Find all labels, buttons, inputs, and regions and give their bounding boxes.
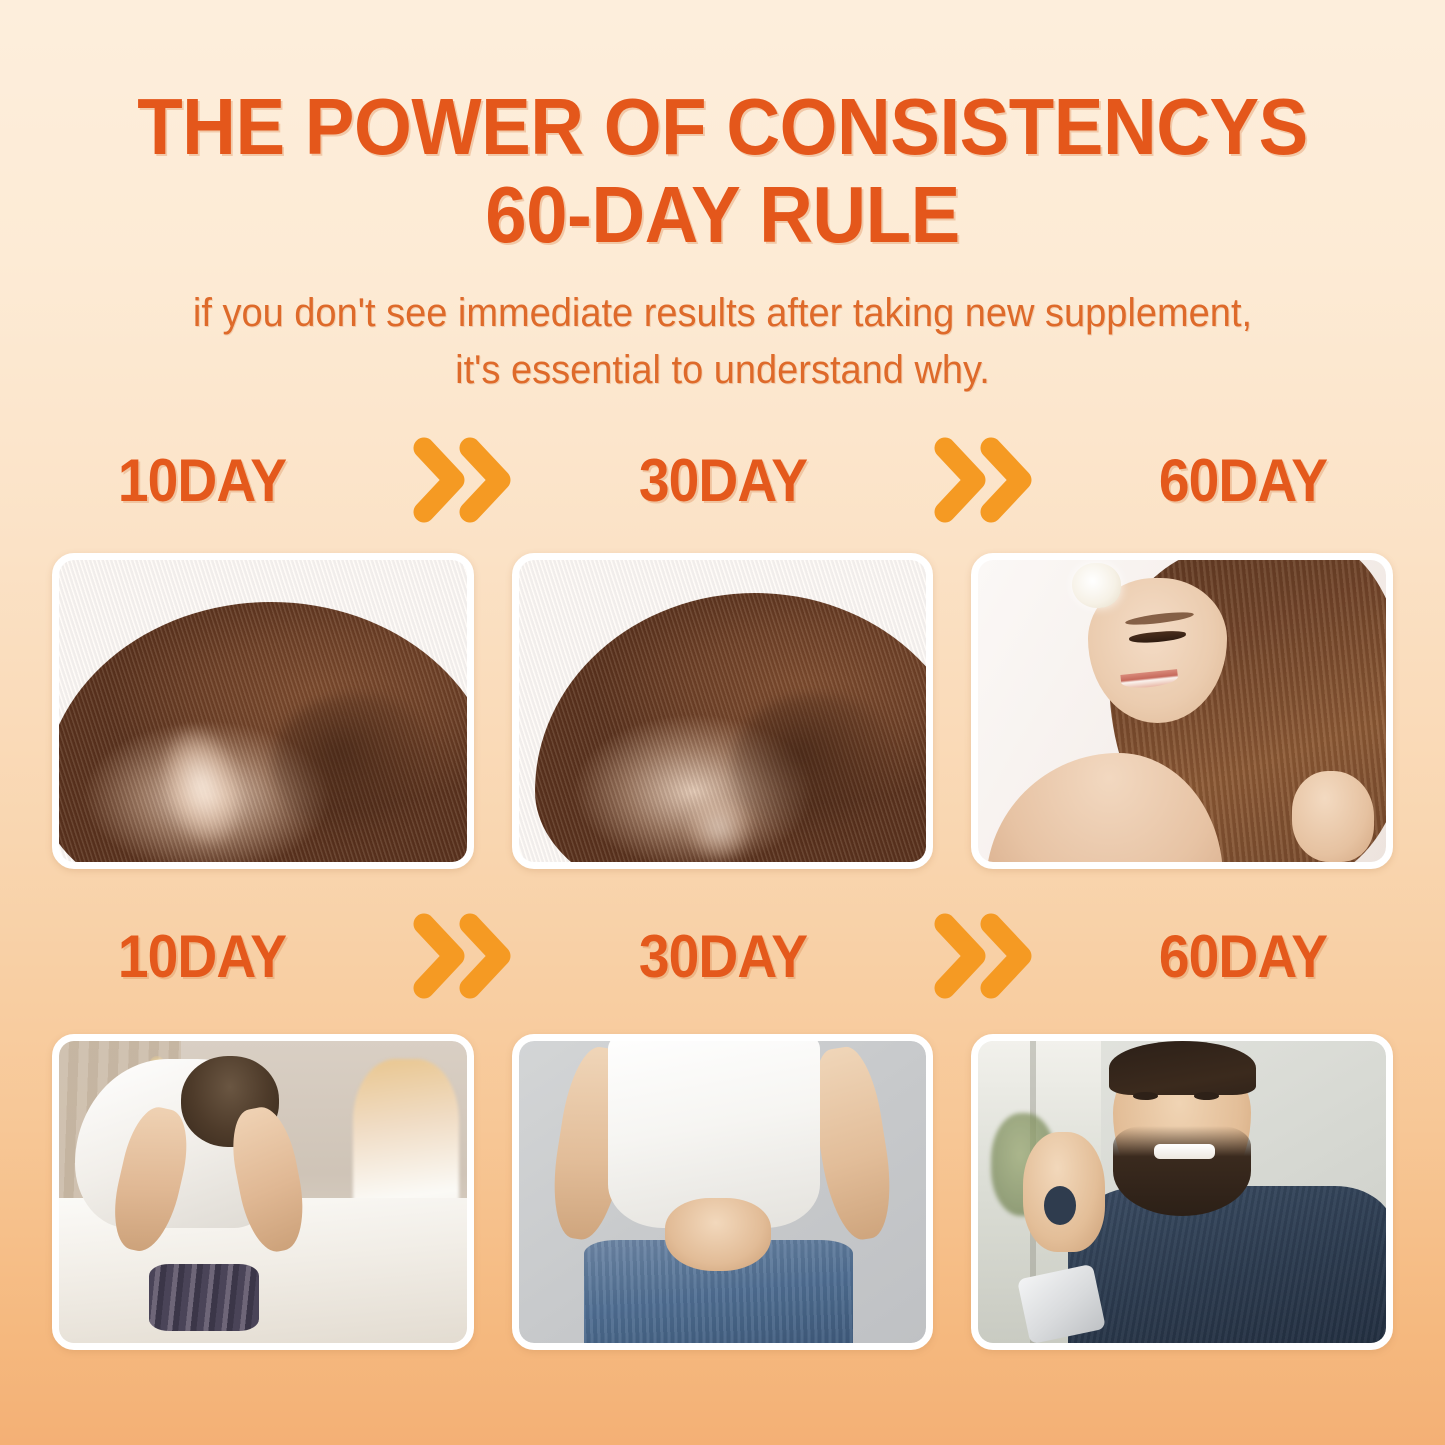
double-chevron-right-icon	[352, 434, 573, 526]
photo-tile-scalp-thinning-day10	[52, 553, 474, 869]
double-chevron-right-icon	[873, 910, 1094, 1002]
headline-line-2: 60-DAY RULE	[51, 176, 1395, 254]
hair-shadow	[731, 693, 902, 838]
photo-tile-happy-man-day60	[971, 1034, 1393, 1350]
headline-line-1: THE POWER OF CONSISTENCYS	[51, 88, 1395, 166]
subtitle-line-2: it's essential to understand why.	[36, 342, 1409, 399]
hair	[1109, 1041, 1256, 1095]
page-title: THE POWER OF CONSISTENCYS 60-DAY RULE	[0, 88, 1445, 255]
double-chevron-right-icon	[873, 434, 1094, 526]
photo-row-mens-health-results	[52, 1034, 1393, 1350]
clasped-hands	[665, 1198, 771, 1270]
photo-tile-man-discomfort-day30	[512, 1034, 934, 1350]
man-discomfort-image	[519, 1041, 927, 1343]
woman-healthy-hair-image	[978, 560, 1386, 862]
flower-hair-accessory	[1072, 563, 1121, 608]
smile-teeth	[1154, 1144, 1215, 1159]
step-label-10day-row2: 10DAY	[64, 922, 340, 991]
scalp-improving-image	[519, 560, 927, 862]
photo-tile-distressed-man-day10	[52, 1034, 474, 1350]
step-label-30day-row1: 30DAY	[585, 446, 861, 515]
distressed-man-image	[59, 1041, 467, 1343]
plaid-shorts	[149, 1264, 259, 1330]
ok-gesture-circle	[1044, 1186, 1077, 1225]
step-label-10day-row1: 10DAY	[64, 446, 340, 515]
beard	[1113, 1126, 1252, 1217]
step-label-60day-row2: 60DAY	[1105, 922, 1381, 991]
navy-shirt	[1068, 1186, 1386, 1343]
photo-row-hair-results	[52, 553, 1393, 869]
photo-tile-woman-healthy-hair-day60	[971, 553, 1393, 869]
photo-tile-scalp-improving-day30	[512, 553, 934, 869]
hand	[1292, 771, 1374, 862]
infographic-poster: THE POWER OF CONSISTENCYS 60-DAY RULE if…	[0, 0, 1445, 1445]
hair-shadow	[271, 693, 442, 838]
step-label-30day-row2: 30DAY	[585, 922, 861, 991]
double-chevron-right-icon	[352, 910, 573, 1002]
happy-man-image	[978, 1041, 1386, 1343]
subtitle: if you don't see immediate results after…	[36, 285, 1409, 399]
step-label-60day-row1: 60DAY	[1105, 446, 1381, 515]
subtitle-line-1: if you don't see immediate results after…	[36, 285, 1409, 342]
timeline-labels-row-1: 10DAY 30DAY 60DAY	[52, 432, 1393, 528]
scalp-thinning-image	[59, 560, 467, 862]
timeline-labels-row-2: 10DAY 30DAY 60DAY	[52, 908, 1393, 1004]
